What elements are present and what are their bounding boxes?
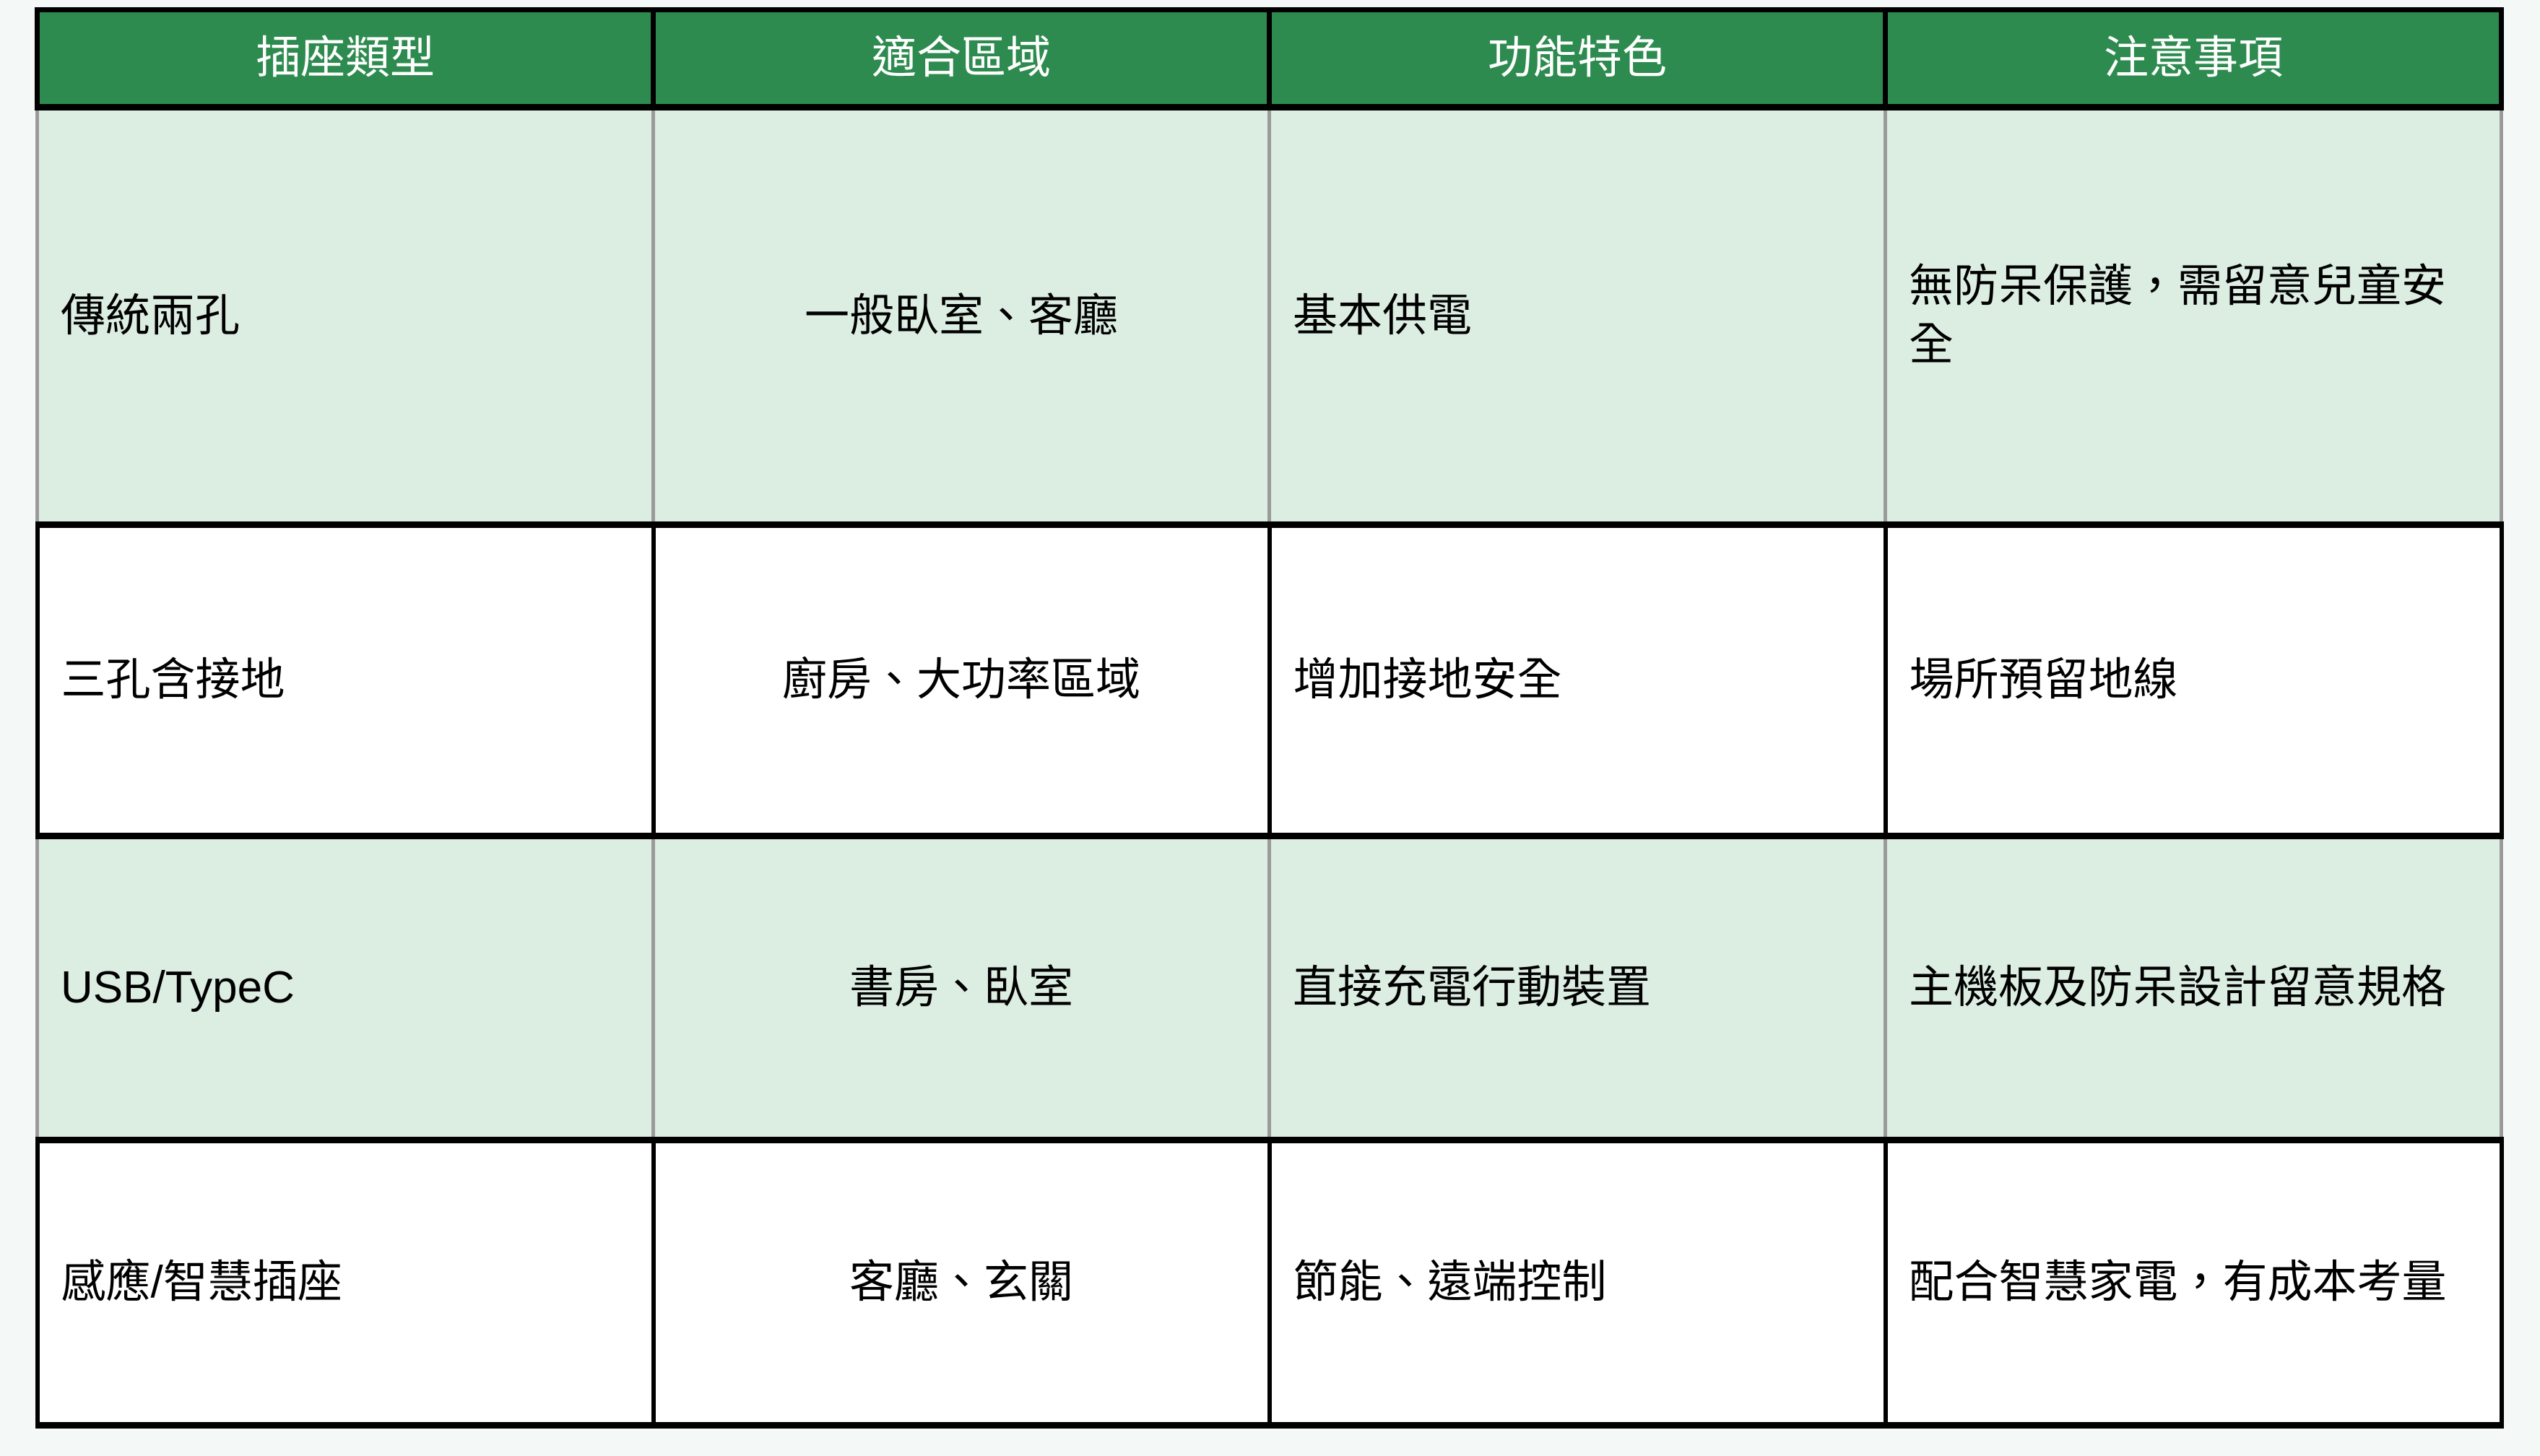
table-row: 感應/智慧插座 客廳、玄關 節能、遠端控制 配合智慧家電，有成本考量 — [38, 1140, 2502, 1426]
cell-text: 節能、遠端控制 — [1293, 1254, 1862, 1312]
cell-socket-type: 感應/智慧插座 — [38, 1140, 654, 1426]
cell-notes: 主機板及防呆設計留意規格 — [1886, 836, 2502, 1140]
cell-suitable-area: 書房、臥室 — [654, 836, 1270, 1140]
cell-text: 場所預留地線 — [1910, 651, 2478, 710]
table-body: 傳統兩孔 一般臥室、客廳 基本供電 無防呆保護，需留意兒童安全 三孔含接地 廚房… — [38, 108, 2502, 1426]
column-header-features: 功能特色 — [1270, 10, 1886, 108]
cell-text: 一般臥室、客廳 — [677, 287, 1246, 346]
cell-socket-type: USB/TypeC — [38, 836, 654, 1140]
cell-text: 書房、臥室 — [677, 959, 1246, 1018]
cell-features: 增加接地安全 — [1270, 525, 1886, 836]
cell-text: 配合智慧家電，有成本考量 — [1910, 1254, 2478, 1312]
cell-text: 感應/智慧插座 — [61, 1254, 630, 1312]
cell-notes: 場所預留地線 — [1886, 525, 2502, 836]
table-header: 插座類型 適合區域 功能特色 注意事項 — [38, 10, 2502, 108]
cell-text: 三孔含接地 — [61, 651, 630, 710]
cell-notes: 配合智慧家電，有成本考量 — [1886, 1140, 2502, 1426]
column-header-socket-type: 插座類型 — [38, 10, 654, 108]
table-row: 傳統兩孔 一般臥室、客廳 基本供電 無防呆保護，需留意兒童安全 — [38, 108, 2502, 525]
cell-text: 直接充電行動裝置 — [1293, 959, 1862, 1018]
cell-suitable-area: 一般臥室、客廳 — [654, 108, 1270, 525]
column-header-suitable-area: 適合區域 — [654, 10, 1270, 108]
comparison-table-container: 插座類型 適合區域 功能特色 注意事項 傳統兩孔 一般臥室、客廳 基本供電 無防… — [35, 7, 2504, 1429]
cell-suitable-area: 廚房、大功率區域 — [654, 525, 1270, 836]
cell-text: USB/TypeC — [61, 959, 630, 1018]
cell-features: 基本供電 — [1270, 108, 1886, 525]
cell-text: 傳統兩孔 — [61, 287, 630, 346]
cell-text: 客廳、玄關 — [677, 1254, 1246, 1312]
cell-features: 直接充電行動裝置 — [1270, 836, 1886, 1140]
cell-text: 增加接地安全 — [1293, 651, 1862, 710]
cell-socket-type: 三孔含接地 — [38, 525, 654, 836]
cell-text: 基本供電 — [1293, 287, 1862, 346]
table-header-row: 插座類型 適合區域 功能特色 注意事項 — [38, 10, 2502, 108]
cell-features: 節能、遠端控制 — [1270, 1140, 1886, 1426]
column-header-notes: 注意事項 — [1886, 10, 2502, 108]
cell-text: 無防呆保護，需留意兒童安全 — [1909, 258, 2478, 374]
cell-suitable-area: 客廳、玄關 — [654, 1140, 1270, 1426]
table-row: 三孔含接地 廚房、大功率區域 增加接地安全 場所預留地線 — [38, 525, 2502, 836]
cell-socket-type: 傳統兩孔 — [38, 108, 654, 525]
cell-text: 廚房、大功率區域 — [677, 651, 1246, 710]
cell-text: 主機板及防呆設計留意規格 — [1909, 959, 2478, 1018]
cell-notes: 無防呆保護，需留意兒童安全 — [1886, 108, 2502, 525]
socket-comparison-table: 插座類型 適合區域 功能特色 注意事項 傳統兩孔 一般臥室、客廳 基本供電 無防… — [35, 7, 2504, 1429]
table-row: USB/TypeC 書房、臥室 直接充電行動裝置 主機板及防呆設計留意規格 — [38, 836, 2502, 1140]
